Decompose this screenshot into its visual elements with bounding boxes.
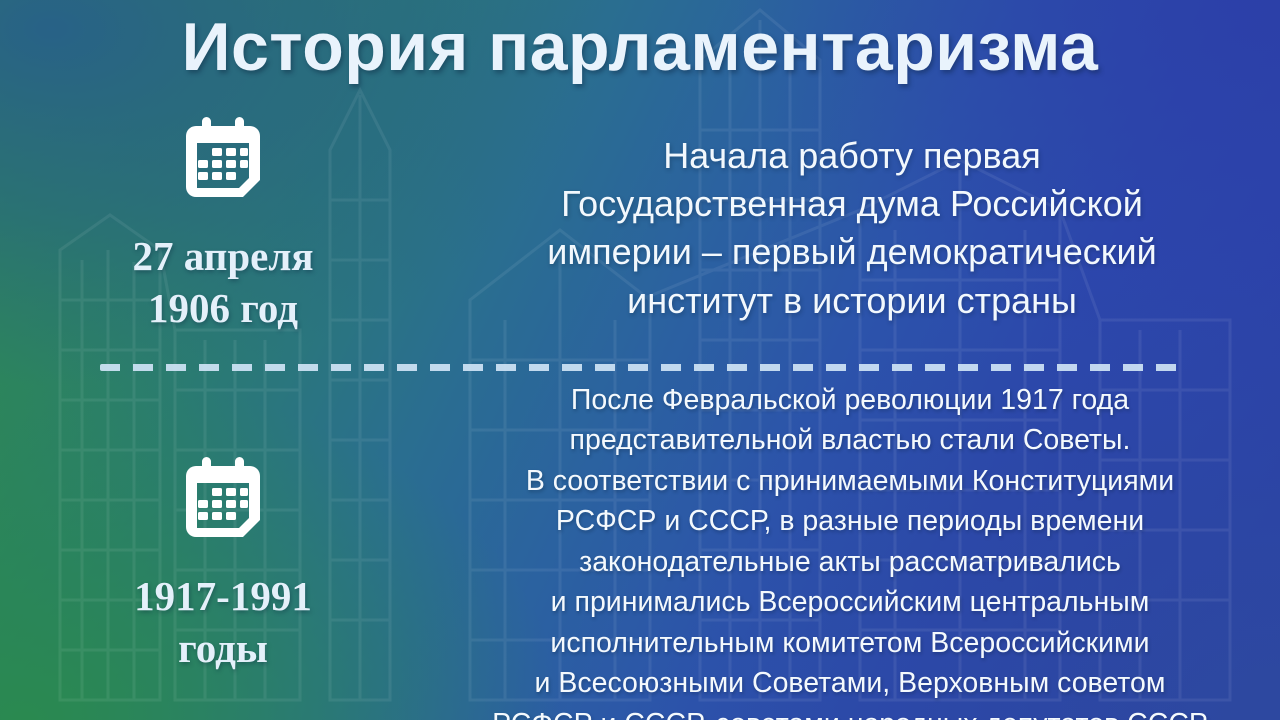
- entry-1-line-1: Начала работу первая: [452, 132, 1252, 180]
- entry-1-line-3: империи – первый демократический: [452, 228, 1252, 276]
- page-title: История парламентаризма: [0, 8, 1280, 86]
- entry-2-line-5: законодательные акты рассматривались: [440, 542, 1260, 582]
- entry-2-line-1: После Февральской революции 1917 года: [440, 380, 1260, 420]
- calendar-icon: [175, 112, 271, 208]
- timeline-entry-2-left: 1917-1991 годы: [28, 452, 418, 675]
- entry-2-date: 1917-1991 годы: [28, 570, 418, 675]
- entry-1-line-4: институт в истории страны: [452, 277, 1252, 325]
- timeline-entry-1-left: 27 апреля 1906 год: [28, 112, 418, 335]
- calendar-icon: [175, 452, 271, 548]
- presentation-slide: История парламентаризма: [0, 0, 1280, 720]
- entry-1-line-2: Государственная дума Российской: [452, 180, 1252, 228]
- entry-2-description: После Февральской революции 1917 года пр…: [440, 380, 1260, 720]
- entry-2-line-4: РСФСР и СССР, в разные периоды времени: [440, 501, 1260, 541]
- entry-2-line-6: и принимались Всероссийским центральным: [440, 582, 1260, 622]
- entry-2-line-3: В соответствии с принимаемыми Конституци…: [440, 461, 1260, 501]
- entry-2-line-9: РСФСР и СССР, советами народных депутато…: [440, 704, 1260, 720]
- entry-1-date: 27 апреля 1906 год: [28, 230, 418, 335]
- section-divider: [100, 364, 1178, 371]
- entry-1-description: Начала работу первая Государственная дум…: [452, 132, 1252, 325]
- entry-2-line-2: представительной властью стали Советы.: [440, 420, 1260, 460]
- entry-2-line-8: и Всесоюзными Советами, Верховным совето…: [440, 663, 1260, 703]
- entry-2-line-7: исполнительным комитетом Всероссийскими: [440, 623, 1260, 663]
